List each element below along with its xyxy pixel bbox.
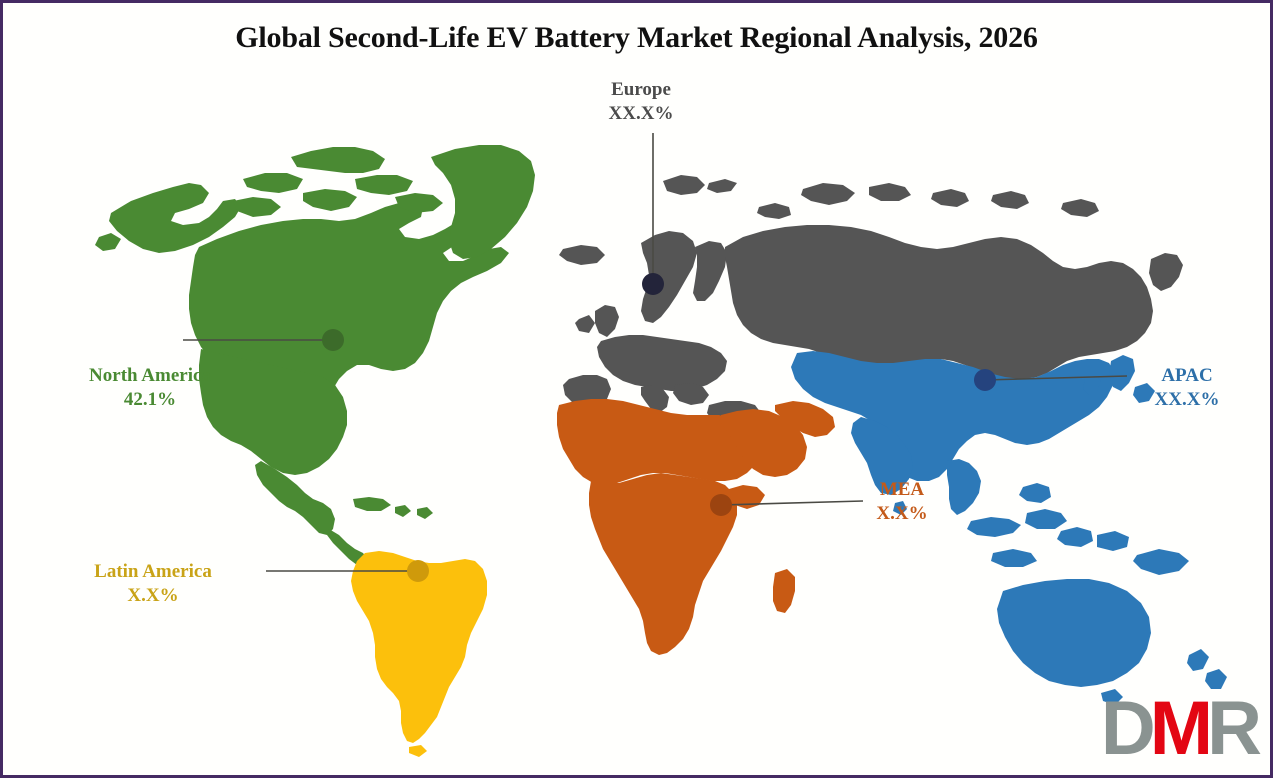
region-name-apac: APAC [1125, 364, 1249, 388]
marker-north-america[interactable] [322, 329, 344, 351]
region-name-europe: Europe [565, 78, 717, 102]
infographic-page: Global Second-Life EV Battery Market Reg… [0, 0, 1273, 778]
logo-letter-m: M [1150, 686, 1207, 771]
region-value-mea: X.X% [839, 502, 965, 526]
region-mea[interactable] [557, 399, 835, 655]
region-label-europe: Europe XX.X% [565, 78, 717, 127]
region-label-latin-america: Latin America X.X% [53, 560, 253, 609]
region-value-north-america: 42.1% [31, 388, 269, 412]
dmr-logo: DMR [1101, 691, 1256, 767]
marker-mea[interactable] [710, 494, 732, 516]
region-value-europe: XX.X% [565, 102, 717, 126]
region-value-latin-america: X.X% [53, 584, 253, 608]
marker-apac[interactable] [974, 369, 996, 391]
region-name-mea: MEA [839, 478, 965, 502]
logo-letter-r: R [1207, 686, 1256, 771]
marker-latin-america[interactable] [407, 560, 429, 582]
logo-letter-d: D [1101, 686, 1150, 771]
region-name-north-america: North America [31, 364, 269, 388]
region-label-apac: APAC XX.X% [1125, 364, 1249, 413]
region-value-apac: XX.X% [1125, 388, 1249, 412]
page-title: Global Second-Life EV Battery Market Reg… [3, 21, 1270, 55]
marker-europe[interactable] [642, 273, 664, 295]
region-label-mea: MEA X.X% [839, 478, 965, 527]
region-name-latin-america: Latin America [53, 560, 253, 584]
region-north-america[interactable] [95, 145, 535, 567]
region-label-north-america: North America 42.1% [31, 364, 269, 413]
